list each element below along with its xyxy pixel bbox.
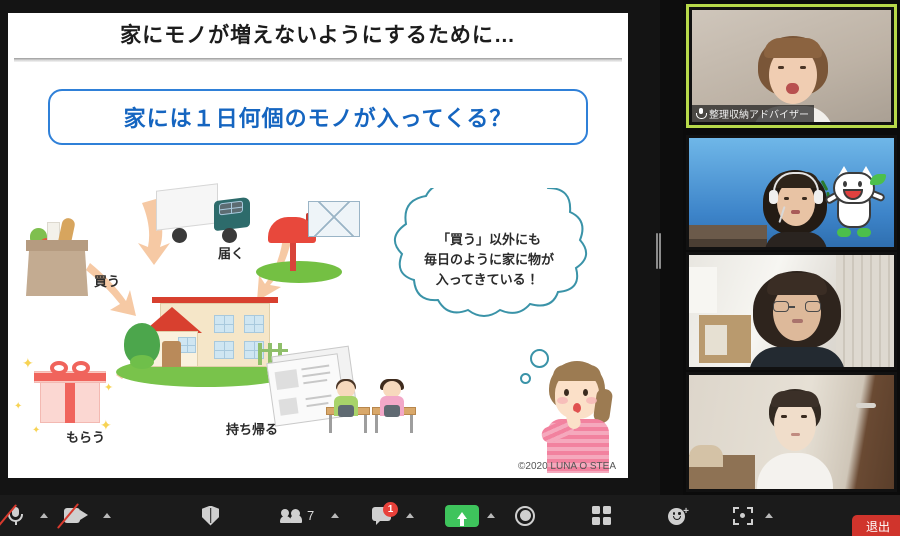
label-bring-home: 持ち帰る [226,419,278,438]
participants-options-caret[interactable] [331,495,339,536]
shared-screen-stage: 家にモノが増えないようにするために… 家には１日何個のモノが入ってくる？ [0,0,660,495]
delivery-truck-illustration [156,185,256,243]
chevron-up-icon[interactable] [103,513,111,518]
video-feed-2 [689,138,894,247]
chevron-up-icon[interactable] [487,513,495,518]
record-button[interactable] [515,495,535,536]
participant-avatar-3 [749,271,845,367]
slide-subtitle: 家には１日何個のモノが入ってくる？ [124,101,513,133]
label-deliver: 届く [218,243,244,262]
whiteboard-button[interactable] [733,495,753,536]
reactions-button[interactable]: + [668,495,689,536]
sparkle-icon: ✦ [32,425,40,436]
chevron-up-icon[interactable] [406,513,414,518]
microphone-muted-icon[interactable] [8,506,23,525]
zoom-meeting-window: 家にモノが増えないようにするために… 家には１日何個のモノが入ってくる？ [0,0,900,536]
gift-box-illustration [34,361,106,423]
video-tile-2[interactable] [686,135,897,250]
slide-title: 家にモノが増えないようにするために… [8,19,628,49]
video-off-icon[interactable] [64,508,88,523]
slide-subtitle-box: 家には１日何個のモノが入ってくる？ [48,89,588,145]
chat-icon[interactable]: 1 [372,507,392,524]
mute-options-caret[interactable] [40,495,48,536]
chat-unread-badge: 1 [383,502,398,517]
breakout-rooms-button[interactable] [592,495,611,536]
mute-control[interactable] [8,495,23,536]
whiteboard-options-caret[interactable] [765,495,773,536]
video-feed-3 [689,255,894,367]
video-tile-1[interactable]: 整理収納アドバイザー [686,4,897,128]
chat-options-caret[interactable] [406,495,414,536]
video-feed-4 [689,375,894,489]
video-feed-1: 整理収納アドバイザー [692,10,891,122]
thinking-girl-illustration [543,361,619,473]
leave-meeting-button[interactable]: 退出 [852,515,900,536]
reactions-icon[interactable]: + [668,506,689,525]
share-screen-icon[interactable] [445,505,479,527]
panel-resize-handle[interactable] [655,233,662,269]
share-options-caret[interactable] [487,495,495,536]
mascot-character [831,172,879,234]
video-tile-3[interactable] [686,252,897,370]
focus-frame-icon[interactable] [733,507,753,525]
presentation-slide: 家にモノが増えないようにするために… 家には１日何個のモノが入ってくる？ [8,13,628,478]
video-control[interactable] [64,495,88,536]
chevron-up-icon[interactable] [331,513,339,518]
share-screen-button[interactable] [445,495,479,536]
grocery-bag-illustration [26,218,88,296]
thought-dot [520,373,531,384]
label-receive: もらう [66,427,105,446]
participants-count: 7 [307,508,314,523]
sparkle-icon: ✦ [14,401,22,412]
school-kids-illustration [326,375,422,433]
video-options-caret[interactable] [103,495,111,536]
video-tile-4[interactable] [686,372,897,492]
chat-button[interactable]: 1 [372,495,392,536]
participants-button[interactable]: 7 [280,495,314,536]
sparkle-icon: ✦ [22,355,34,372]
participant-name-bar-1: 整理収納アドバイザー [692,105,814,122]
record-icon[interactable] [515,506,535,526]
chevron-up-icon[interactable] [765,513,773,518]
thought-bubble-text: 「買う」以外にも 毎日のように家に物が 入ってきている ！ [360,230,618,290]
participant-filmstrip: 整理収納アドバイザー [683,0,900,495]
shield-icon[interactable] [202,506,219,526]
title-divider [14,58,622,62]
slide-copyright: ©2020 LUNA O STEA [518,461,616,472]
envelope-illustration [308,201,360,237]
chevron-up-icon[interactable] [40,513,48,518]
microphone-icon [696,108,705,119]
sparkle-icon: ✦ [104,381,113,394]
thought-bubble: 「買う」以外にも 毎日のように家に物が 入ってきている ！ [360,188,618,348]
security-button[interactable] [202,495,219,536]
apps-grid-icon[interactable] [592,506,611,525]
participant-name-1: 整理収納アドバイザー [709,106,809,121]
participant-avatar-4 [753,389,837,489]
meeting-toolbar: 7 1 [0,495,900,536]
participants-icon[interactable] [280,509,302,523]
